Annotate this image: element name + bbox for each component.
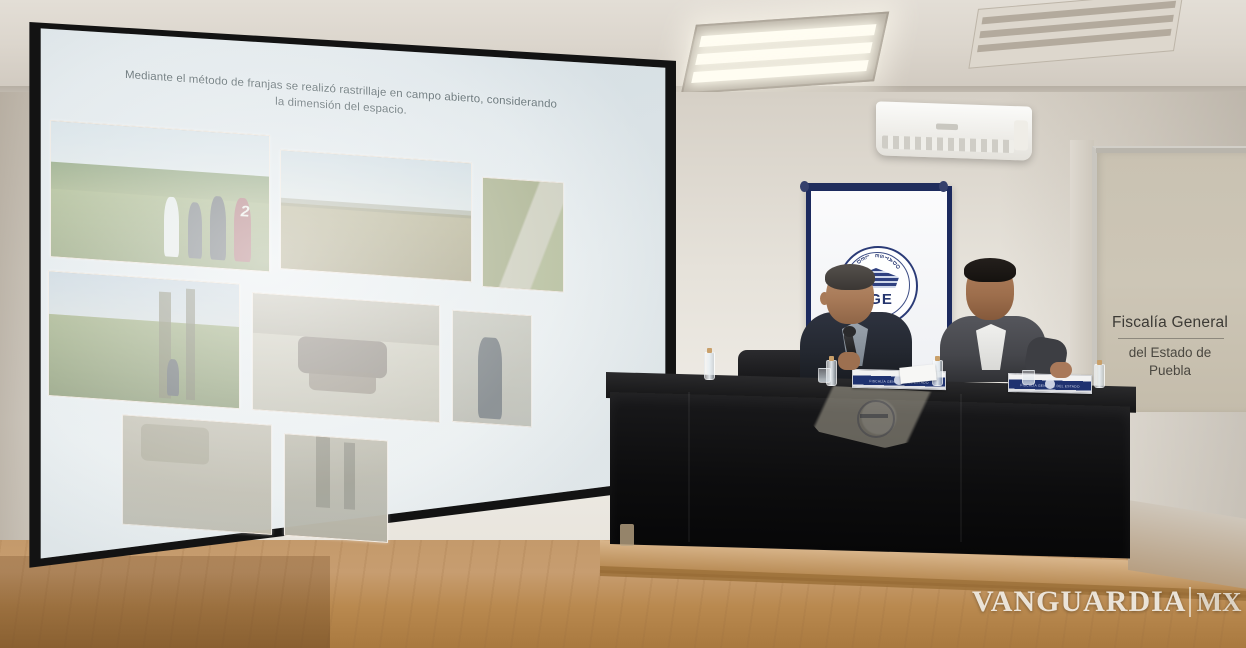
person-left-hand [838, 352, 860, 370]
person-right-hair [964, 258, 1016, 282]
banner-rod [802, 183, 946, 190]
banner-rod-cap [800, 181, 809, 192]
banner-rod-cap [939, 181, 948, 192]
wall-banner-rod [1096, 148, 1246, 153]
person-right-hand [1050, 362, 1072, 378]
drinking-glass [1022, 370, 1035, 385]
ceiling-light-icon [681, 11, 889, 94]
water-bottle [704, 352, 715, 380]
person-left-hair [825, 264, 875, 290]
press-conference-photo: Mediante el método de franjas se realizó… [0, 0, 1246, 648]
water-bottle [1094, 364, 1105, 388]
wall-banner-subtitle: del Estado de Puebla [1100, 344, 1240, 380]
wall-banner-title: Fiscalía General [1100, 314, 1240, 332]
skirt-fold [688, 392, 690, 542]
nameplate-right: FISCALÍA GENERAL DEL ESTADO [1008, 373, 1092, 394]
projection-glare [12, 0, 680, 570]
microphone-head [843, 326, 856, 337]
watermark: VANGUARDIAMX [972, 585, 1241, 619]
projected-logo-ring [857, 400, 895, 438]
drinking-glass [818, 368, 831, 383]
wall-banner-subtitle-line-1: del Estado de [1129, 345, 1212, 360]
projected-logo-bar [860, 414, 888, 418]
skirt-fold [960, 394, 962, 542]
wall-banner-divider [1118, 338, 1224, 339]
watermark-suffix: MX [1189, 587, 1241, 617]
floor-shadow [0, 556, 330, 648]
watermark-brand: VANGUARDIA [972, 585, 1186, 618]
air-conditioner-icon [876, 101, 1032, 160]
table-leg [620, 524, 634, 546]
wall-banner-subtitle-line-2: Puebla [1149, 363, 1191, 378]
